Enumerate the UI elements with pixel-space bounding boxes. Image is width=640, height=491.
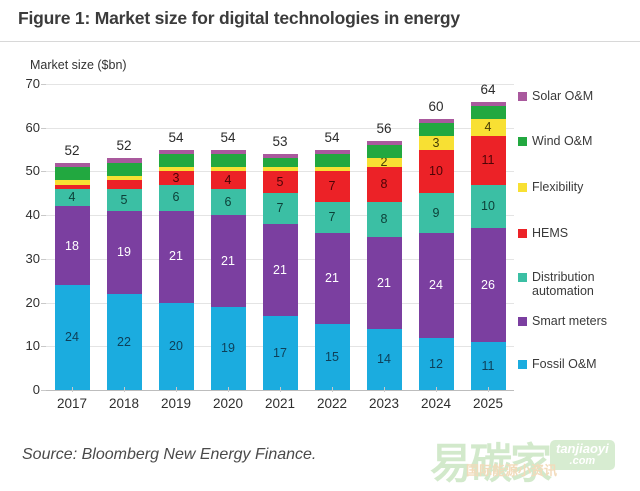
bar-segment-2017-wind-o-m[interactable] — [55, 167, 90, 180]
bar-segment-2017-flexibility[interactable] — [55, 180, 90, 184]
bar-total-label-2025: 64 — [471, 82, 506, 97]
bar-total-label-2017: 52 — [55, 143, 90, 158]
legend-label: Wind O&M — [532, 134, 592, 148]
bar-segment-2017-solar-o-m[interactable] — [55, 163, 90, 167]
bar-total-label-2022: 54 — [315, 130, 350, 145]
bar-total-label-2021: 53 — [263, 134, 298, 149]
bar-group-2018[interactable]: 22195522018 — [107, 84, 142, 390]
bar-segment-2024-distribution-automation[interactable]: 9 — [419, 193, 454, 232]
watermark-site-name: tanjiaoyi — [556, 441, 609, 456]
bar-segment-2023-wind-o-m[interactable] — [367, 145, 402, 158]
bar-segment-2022-flexibility[interactable] — [315, 167, 350, 171]
bar-segment-value: 4 — [225, 174, 232, 187]
legend-swatch — [518, 92, 527, 101]
bar-segment-2021-hems[interactable]: 5 — [263, 171, 298, 193]
y-tick-mark-60 — [41, 128, 46, 129]
bar-segment-2020-hems[interactable]: 4 — [211, 171, 246, 188]
bar-segment-value: 8 — [381, 178, 388, 191]
bar-segment-2018-flexibility[interactable] — [107, 176, 142, 180]
legend-item-hems[interactable]: HEMS — [518, 226, 568, 240]
y-tick-label-10: 10 — [8, 338, 40, 353]
bar-segment-2018-smart-meters[interactable]: 19 — [107, 211, 142, 294]
bar-segment-2023-smart-meters[interactable]: 21 — [367, 237, 402, 329]
bar-segment-2025-distribution-automation[interactable]: 10 — [471, 185, 506, 229]
bar-segment-2020-wind-o-m[interactable] — [211, 154, 246, 167]
watermark-site-domain: .com — [556, 456, 609, 468]
bar-segment-2020-flexibility[interactable] — [211, 167, 246, 171]
y-tick-label-40: 40 — [8, 207, 40, 222]
page-title: Figure 1: Market size for digital techno… — [18, 8, 460, 29]
legend-item-smart-meters[interactable]: Smart meters — [518, 314, 607, 328]
bar-group-2021[interactable]: 172175532021 — [263, 84, 298, 390]
y-axis-tick-labels: 010203040506070 — [0, 84, 40, 390]
bar-segment-2021-wind-o-m[interactable] — [263, 158, 298, 167]
bar-segment-2023-distribution-automation[interactable]: 8 — [367, 202, 402, 237]
bar-total-label-2019: 54 — [159, 130, 194, 145]
legend-label: HEMS — [532, 226, 568, 240]
figure-container: Figure 1: Market size for digital techno… — [0, 0, 640, 489]
legend-item-flexibility[interactable]: Flexibility — [518, 180, 583, 194]
bar-segment-value: 7 — [277, 202, 284, 215]
bar-segment-value: 19 — [117, 246, 131, 259]
bar-segment-value: 2 — [381, 158, 388, 167]
legend-label: Fossil O&M — [532, 357, 597, 371]
x-tick-label-2023: 2023 — [367, 396, 402, 411]
bar-segment-2017-hems[interactable] — [55, 185, 90, 189]
bar-segment-2023-hems[interactable]: 8 — [367, 167, 402, 202]
bar-segment-2019-fossil-o-m[interactable]: 20 — [159, 303, 194, 390]
x-tick-label-2018: 2018 — [107, 396, 142, 411]
x-tick-label-2020: 2020 — [211, 396, 246, 411]
bar-segment-2022-solar-o-m[interactable] — [315, 150, 350, 154]
bar-segment-2024-fossil-o-m[interactable]: 12 — [419, 338, 454, 390]
bar-segment-2021-distribution-automation[interactable]: 7 — [263, 193, 298, 224]
bar-segment-2017-smart-meters[interactable]: 18 — [55, 206, 90, 285]
legend-label: Flexibility — [532, 180, 583, 194]
bar-segment-2024-flexibility[interactable]: 3 — [419, 136, 454, 149]
bar-segment-value: 10 — [481, 200, 495, 213]
y-tick-mark-20 — [41, 303, 46, 304]
x-tick-mark-2023 — [384, 387, 385, 392]
legend-swatch — [518, 183, 527, 192]
bar-segment-2021-flexibility[interactable] — [263, 167, 298, 171]
bar-segment-2021-fossil-o-m[interactable]: 17 — [263, 316, 298, 390]
bar-segment-2017-distribution-automation[interactable]: 4 — [55, 189, 90, 206]
legend-label: Smart meters — [532, 314, 607, 328]
bar-segment-2021-solar-o-m[interactable] — [263, 154, 298, 158]
legend-item-distribution-automation[interactable]: Distribution automation — [518, 270, 595, 299]
bar-group-2019[interactable]: 202163542019 — [159, 84, 194, 390]
bar-segment-2020-smart-meters[interactable]: 21 — [211, 215, 246, 307]
watermark-tagline: 国际能源小资讯 — [466, 460, 557, 479]
bar-segment-value: 3 — [433, 137, 440, 150]
bar-segment-value: 7 — [329, 211, 336, 224]
bar-segment-2021-smart-meters[interactable]: 21 — [263, 224, 298, 316]
bar-segment-value: 24 — [65, 331, 79, 344]
y-tick-mark-40 — [41, 215, 46, 216]
bar-segment-value: 21 — [169, 250, 183, 263]
bar-segment-value: 11 — [482, 360, 495, 373]
watermark: 易碳家 tanjiaoyi .com 国际能源小资讯 — [430, 432, 636, 488]
bar-segment-value: 17 — [273, 347, 287, 360]
bar-segment-2019-flexibility[interactable] — [159, 167, 194, 171]
y-tick-label-20: 20 — [8, 295, 40, 310]
bar-segment-value: 11 — [482, 154, 495, 167]
bar-segment-2025-fossil-o-m[interactable]: 11 — [471, 342, 506, 390]
x-tick-mark-2021 — [280, 387, 281, 392]
x-tick-label-2024: 2024 — [419, 396, 454, 411]
legend-item-solar-o-m[interactable]: Solar O&M — [518, 89, 593, 103]
y-tick-mark-70 — [41, 84, 46, 85]
bar-total-label-2023: 56 — [367, 121, 402, 136]
bar-segment-2022-smart-meters[interactable]: 21 — [315, 233, 350, 325]
legend-item-wind-o-m[interactable]: Wind O&M — [518, 134, 592, 148]
bar-segment-value: 21 — [221, 255, 235, 268]
bar-segment-value: 20 — [169, 340, 183, 353]
bar-segment-2025-solar-o-m[interactable] — [471, 102, 506, 106]
legend-label: Distribution automation — [532, 270, 595, 299]
legend-swatch — [518, 229, 527, 238]
bar-segment-value: 4 — [69, 191, 76, 204]
x-tick-label-2017: 2017 — [55, 396, 90, 411]
bar-group-2020[interactable]: 192164542020 — [211, 84, 246, 390]
bar-segment-value: 22 — [117, 336, 131, 349]
bar-segment-value: 3 — [173, 172, 180, 185]
bar-total-label-2024: 60 — [419, 99, 454, 114]
x-tick-mark-2024 — [436, 387, 437, 392]
bar-segment-value: 24 — [429, 279, 443, 292]
y-tick-label-70: 70 — [8, 76, 40, 91]
x-tick-label-2022: 2022 — [315, 396, 350, 411]
bar-segment-value: 21 — [377, 277, 391, 290]
bar-segment-2019-wind-o-m[interactable] — [159, 154, 194, 167]
bar-group-2022[interactable]: 152177542022 — [315, 84, 350, 390]
bar-segment-value: 14 — [377, 353, 391, 366]
y-tick-label-60: 60 — [8, 120, 40, 135]
bar-segment-value: 10 — [429, 165, 443, 178]
bar-segment-value: 21 — [273, 264, 287, 277]
bar-segment-value: 4 — [485, 121, 492, 134]
bar-group-2023[interactable]: 1421882562023 — [367, 84, 402, 390]
bar-segment-value: 5 — [121, 194, 128, 207]
bar-segment-2018-solar-o-m[interactable] — [107, 158, 142, 162]
bar-segment-2020-distribution-automation[interactable]: 6 — [211, 189, 246, 215]
bar-segment-2018-fossil-o-m[interactable]: 22 — [107, 294, 142, 390]
bar-total-label-2020: 54 — [211, 130, 246, 145]
y-tick-mark-10 — [41, 346, 46, 347]
x-tick-label-2021: 2021 — [263, 396, 298, 411]
bar-segment-2022-distribution-automation[interactable]: 7 — [315, 202, 350, 233]
bar-segment-value: 12 — [429, 358, 443, 371]
legend-swatch — [518, 137, 527, 146]
x-tick-mark-2019 — [176, 387, 177, 392]
bar-segment-value: 6 — [225, 196, 232, 209]
y-tick-label-30: 30 — [8, 251, 40, 266]
y-tick-mark-30 — [41, 259, 46, 260]
watermark-brand: 易碳家 — [430, 430, 550, 491]
bar-segment-2019-distribution-automation[interactable]: 6 — [159, 185, 194, 211]
y-tick-mark-50 — [41, 171, 46, 172]
title-divider — [0, 41, 640, 42]
bar-segment-value: 7 — [329, 180, 336, 193]
bar-segment-2024-smart-meters[interactable]: 24 — [419, 233, 454, 338]
x-tick-mark-2017 — [72, 387, 73, 392]
x-tick-label-2019: 2019 — [159, 396, 194, 411]
legend-label: Solar O&M — [532, 89, 593, 103]
legend-swatch — [518, 273, 527, 282]
bar-segment-value: 26 — [481, 279, 495, 292]
bar-segment-2020-fossil-o-m[interactable]: 19 — [211, 307, 246, 390]
x-tick-mark-2025 — [488, 387, 489, 392]
legend-swatch — [518, 317, 527, 326]
bar-segment-value: 5 — [277, 176, 284, 189]
bar-segment-2024-hems[interactable]: 10 — [419, 150, 454, 194]
bar-segment-2018-hems[interactable] — [107, 180, 142, 189]
legend-item-fossil-o-m[interactable]: Fossil O&M — [518, 357, 597, 371]
bar-segment-2025-smart-meters[interactable]: 26 — [471, 228, 506, 342]
y-tick-label-50: 50 — [8, 163, 40, 178]
bar-segment-2024-wind-o-m[interactable] — [419, 123, 454, 136]
bar-segment-2022-wind-o-m[interactable] — [315, 154, 350, 167]
bar-segment-2023-solar-o-m[interactable] — [367, 141, 402, 145]
x-tick-label-2025: 2025 — [471, 396, 506, 411]
bar-segment-2018-distribution-automation[interactable]: 5 — [107, 189, 142, 211]
bar-segment-2022-fossil-o-m[interactable]: 15 — [315, 324, 350, 390]
x-tick-mark-2018 — [124, 387, 125, 392]
bar-segment-2025-wind-o-m[interactable] — [471, 106, 506, 119]
y-tick-label-0: 0 — [8, 382, 40, 397]
legend-swatch — [518, 360, 527, 369]
y-axis-title: Market size ($bn) — [30, 58, 127, 72]
bar-segment-2018-wind-o-m[interactable] — [107, 163, 142, 176]
bar-segment-2017-fossil-o-m[interactable]: 24 — [55, 285, 90, 390]
x-tick-mark-2022 — [332, 387, 333, 392]
bar-segment-2025-flexibility[interactable]: 4 — [471, 119, 506, 136]
bar-segment-value: 18 — [65, 240, 79, 253]
plot-area: 2418452201722195522018202163542019192164… — [46, 84, 514, 390]
x-tick-mark-2020 — [228, 387, 229, 392]
bar-segment-2019-smart-meters[interactable]: 21 — [159, 211, 194, 303]
bar-group-2024[interactable]: 12249103602024 — [419, 84, 454, 390]
bar-segment-2023-fossil-o-m[interactable]: 14 — [367, 329, 402, 390]
bar-segment-value: 19 — [221, 342, 235, 355]
bar-segment-2025-hems[interactable]: 11 — [471, 136, 506, 184]
source-note: Source: Bloomberg New Energy Finance. — [22, 446, 316, 464]
bar-segment-value: 9 — [433, 207, 440, 220]
bar-segment-value: 6 — [173, 191, 180, 204]
bar-group-2017[interactable]: 24184522017 — [55, 84, 90, 390]
bar-segment-2024-solar-o-m[interactable] — [419, 119, 454, 123]
bar-segment-2023-flexibility[interactable]: 2 — [367, 158, 402, 167]
watermark-site: tanjiaoyi .com — [550, 440, 615, 470]
bar-segment-value: 8 — [381, 213, 388, 226]
bar-total-label-2018: 52 — [107, 138, 142, 153]
bar-segment-2020-solar-o-m[interactable] — [211, 150, 246, 154]
bar-segment-2019-hems[interactable]: 3 — [159, 171, 194, 184]
bar-group-2025[interactable]: 112610114642025 — [471, 84, 506, 390]
bar-segment-2022-hems[interactable]: 7 — [315, 171, 350, 202]
bar-segment-value: 15 — [325, 351, 339, 364]
bar-segment-2019-solar-o-m[interactable] — [159, 150, 194, 154]
bar-segment-value: 21 — [325, 272, 339, 285]
